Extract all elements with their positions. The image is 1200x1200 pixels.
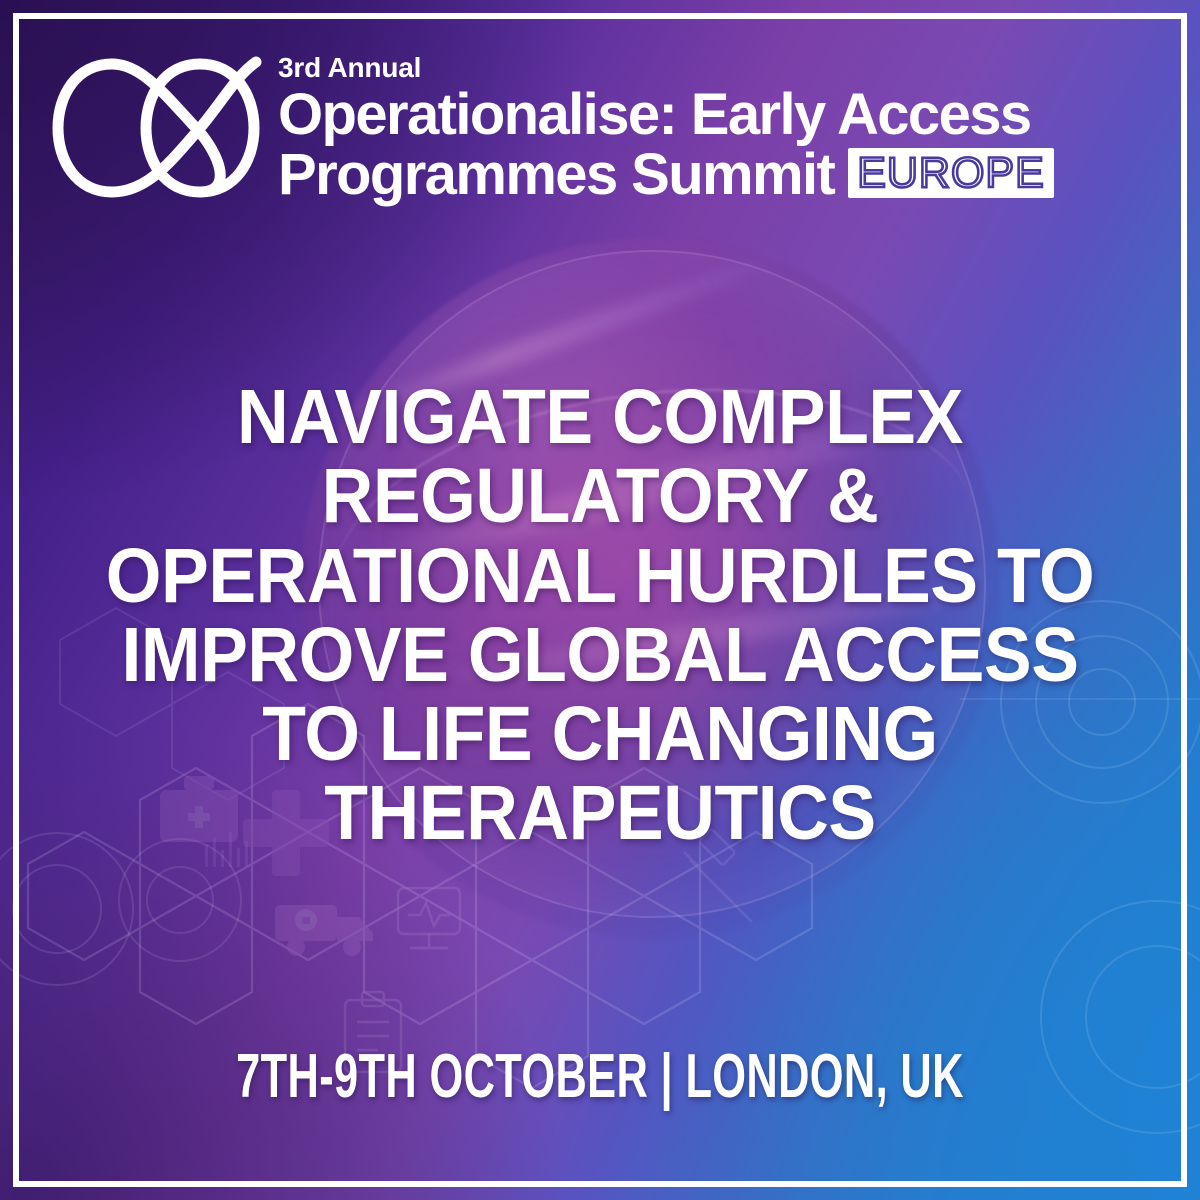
headline-line: TO LIFE CHANGING — [98, 695, 1102, 774]
headline: NAVIGATE COMPLEX REGULATORY & OPERATIONA… — [98, 378, 1102, 854]
poster-canvas: 3rd Annual Operationalise: Early Access … — [0, 0, 1200, 1200]
headline-line: IMPROVE GLOBAL ACCESS — [98, 616, 1102, 695]
event-date-location: 7TH-9TH OCTOBER | LONDON, UK — [180, 1046, 1020, 1108]
infinity-icon — [50, 52, 262, 204]
brand-title-line-1: Operationalise: Early Access — [278, 85, 1160, 145]
event-logo: 3rd Annual Operationalise: Early Access … — [50, 52, 1160, 204]
annual-label: 3rd Annual — [278, 54, 1160, 82]
headline-line: REGULATORY & — [98, 457, 1102, 536]
headline-line: NAVIGATE COMPLEX — [98, 378, 1102, 457]
brand-title-line-2: Programmes Summit — [278, 145, 834, 205]
region-badge: EUROPE — [848, 148, 1054, 198]
region-badge-label: EUROPE — [857, 152, 1045, 195]
headline-line: OPERATIONAL HURDLES TO — [98, 537, 1102, 616]
ambulance-icon — [275, 905, 373, 956]
headline-line: THERAPEUTICS — [98, 774, 1102, 853]
monitor-icon — [398, 888, 460, 948]
